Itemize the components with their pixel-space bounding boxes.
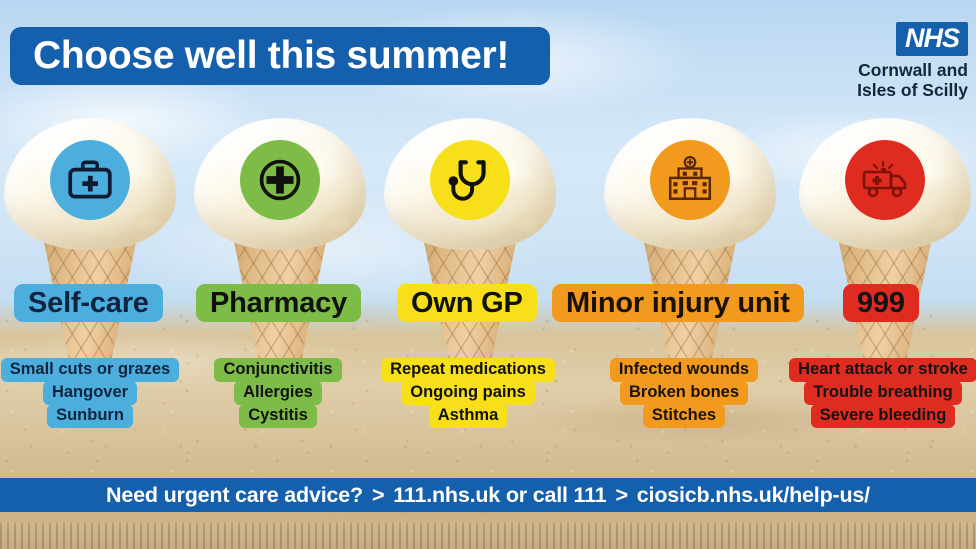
symptom-item: Ongoing pains <box>401 381 535 405</box>
symptom-item: Cystitis <box>239 404 317 428</box>
stethoscope-icon <box>430 140 510 220</box>
ambulance-icon <box>845 140 925 220</box>
nhs-logo: NHS <box>896 22 968 56</box>
footer-bar: Need urgent care advice? > 111.nhs.uk or… <box>0 478 976 512</box>
footer-link-ciosicb[interactable]: ciosicb.nhs.uk/help-us/ <box>637 483 870 508</box>
symptom-list-999: Heart attack or stroke Trouble breathing… <box>790 358 976 428</box>
symptom-item: Heart attack or stroke <box>789 358 976 382</box>
nhs-region-line-1: Cornwall and <box>857 60 968 80</box>
first-aid-kit-icon <box>50 140 130 220</box>
poster-canvas: Self-care Pharmacy Own GP Minor injury u… <box>0 0 976 549</box>
symptom-item: Broken bones <box>620 381 748 405</box>
symptom-item: Small cuts or grazes <box>1 358 179 382</box>
sand-bottom-strip <box>0 523 976 549</box>
category-pill-minor-injury-unit[interactable]: Minor injury unit <box>552 284 804 322</box>
symptom-list-self-care: Small cuts or grazes Hangover Sunburn <box>0 358 180 428</box>
footer-separator-1: > <box>372 483 384 508</box>
green-cross-icon <box>240 140 320 220</box>
symptom-item: Sunburn <box>47 404 133 428</box>
symptom-item: Allergies <box>234 381 322 405</box>
category-pill-own-gp[interactable]: Own GP <box>397 284 537 322</box>
symptom-item: Conjunctivitis <box>214 358 341 382</box>
nhs-region-line-2: Isles of Scilly <box>857 80 968 100</box>
hospital-building-icon <box>650 140 730 220</box>
footer-question: Need urgent care advice? <box>106 483 363 508</box>
page-title: Choose well this summer! <box>33 34 509 78</box>
symptom-item: Repeat medications <box>381 358 555 382</box>
symptom-list-minor-injury-unit: Infected wounds Broken bones Stitches <box>605 358 763 428</box>
symptom-item: Asthma <box>429 404 508 428</box>
category-pill-self-care[interactable]: Self-care <box>14 284 163 322</box>
category-pill-999[interactable]: 999 <box>843 284 919 322</box>
symptom-item: Trouble breathing <box>804 381 961 405</box>
nhs-branding: NHS Cornwall and Isles of Scilly <box>857 22 968 100</box>
footer-link-111[interactable]: 111.nhs.uk or call 111 <box>393 483 606 508</box>
title-banner: Choose well this summer! <box>10 27 550 85</box>
category-label: Pharmacy <box>210 287 347 320</box>
symptom-item: Severe bleeding <box>811 404 956 428</box>
category-label: 999 <box>857 287 905 320</box>
category-label: Self-care <box>28 287 149 320</box>
category-label: Own GP <box>411 287 523 320</box>
symptom-list-own-gp: Repeat medications Ongoing pains Asthma <box>382 358 554 428</box>
symptom-item: Hangover <box>43 381 137 405</box>
category-pill-pharmacy[interactable]: Pharmacy <box>196 284 361 322</box>
category-label: Minor injury unit <box>566 287 790 320</box>
symptom-list-pharmacy: Conjunctivitis Allergies Cystitis <box>208 358 348 428</box>
symptom-item: Stitches <box>643 404 725 428</box>
symptom-item: Infected wounds <box>610 358 758 382</box>
footer-separator-2: > <box>615 483 627 508</box>
